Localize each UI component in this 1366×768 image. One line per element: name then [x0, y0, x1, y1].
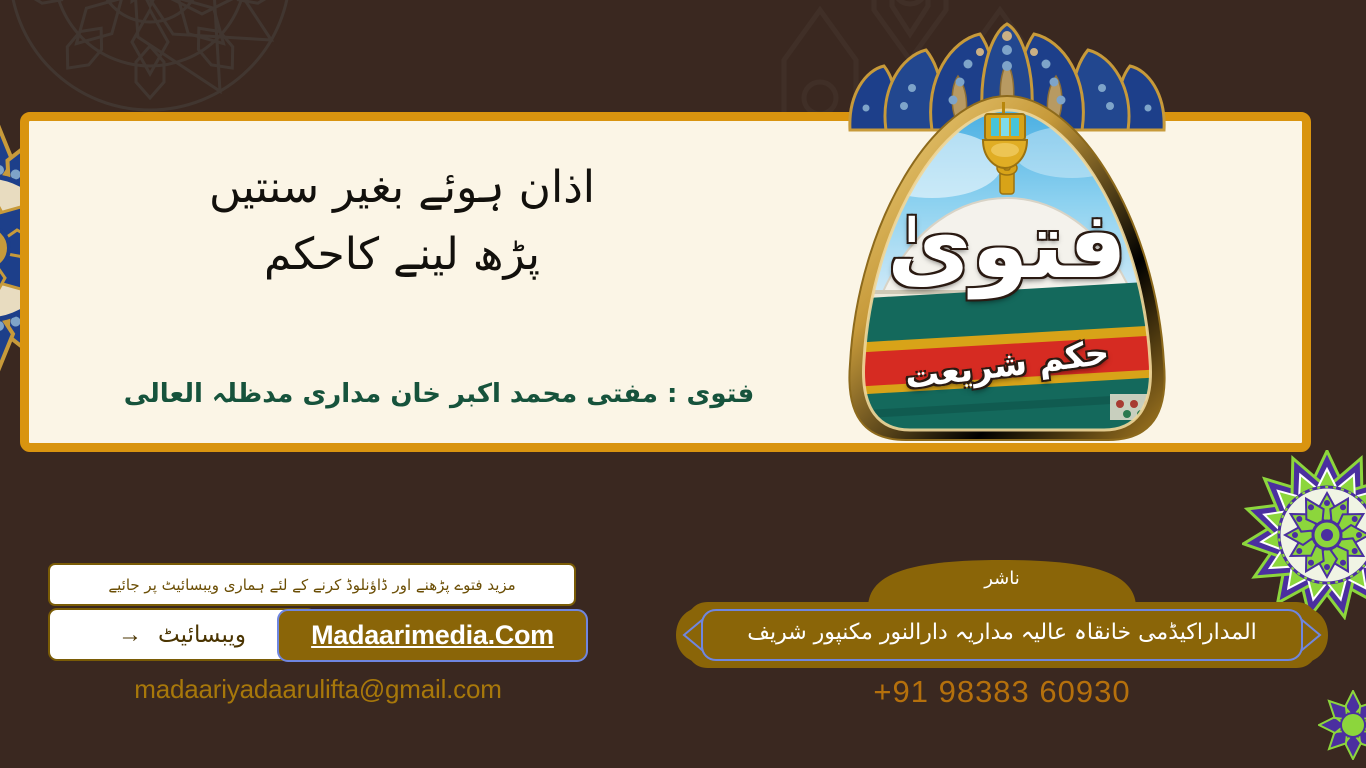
publisher-name: المداراکیڈمی خانقاہ عالیہ مداریہ دارالنو…: [716, 620, 1288, 645]
mufti-attribution: فتوی : مفتی محمد اکبر خان مداری مدظلہ ال…: [39, 379, 839, 409]
website-url-button[interactable]: Madaarimedia.Com: [277, 609, 588, 662]
website-block: مزید فتوے پڑھنے اور ڈاؤنلوڈ کرنے کے لئے …: [48, 563, 588, 705]
website-label: ویبسائیٹ: [158, 622, 246, 648]
publisher-block: ناشر المداراکیڈمی خانقاہ عالیہ مداریہ دا…: [672, 558, 1332, 710]
publisher-banner: ناشر المداراکیڈمی خانقاہ عالیہ مداریہ دا…: [672, 558, 1332, 668]
fatwa-logo-badge: فتویٰ حکم شریعت: [834, 22, 1180, 442]
arrow-right-icon: →: [118, 623, 142, 647]
publisher-label: ناشر: [672, 568, 1332, 589]
website-note: مزید فتوے پڑھنے اور ڈاؤنلوڈ کرنے کے لئے …: [48, 563, 576, 606]
shrine-dome-icon: [842, 94, 1172, 442]
website-row: ویبسائیٹ → Madaarimedia.Com: [48, 608, 588, 661]
phone-number[interactable]: +91 98383 60930: [672, 674, 1332, 710]
fatwa-poster: اذان ہوئے بغیر سنتیں پڑھ لینے کاحکم فتوی…: [0, 0, 1366, 768]
website-label-pill: ویبسائیٹ →: [48, 608, 316, 661]
page-title: اذان ہوئے بغیر سنتیں پڑھ لینے کاحکم: [57, 155, 747, 289]
headline-line-1: اذان ہوئے بغیر سنتیں: [57, 155, 747, 222]
email-address[interactable]: madaariyadaarulifta@gmail.com: [48, 674, 588, 705]
headline-line-2: پڑھ لینے کاحکم: [57, 222, 747, 289]
